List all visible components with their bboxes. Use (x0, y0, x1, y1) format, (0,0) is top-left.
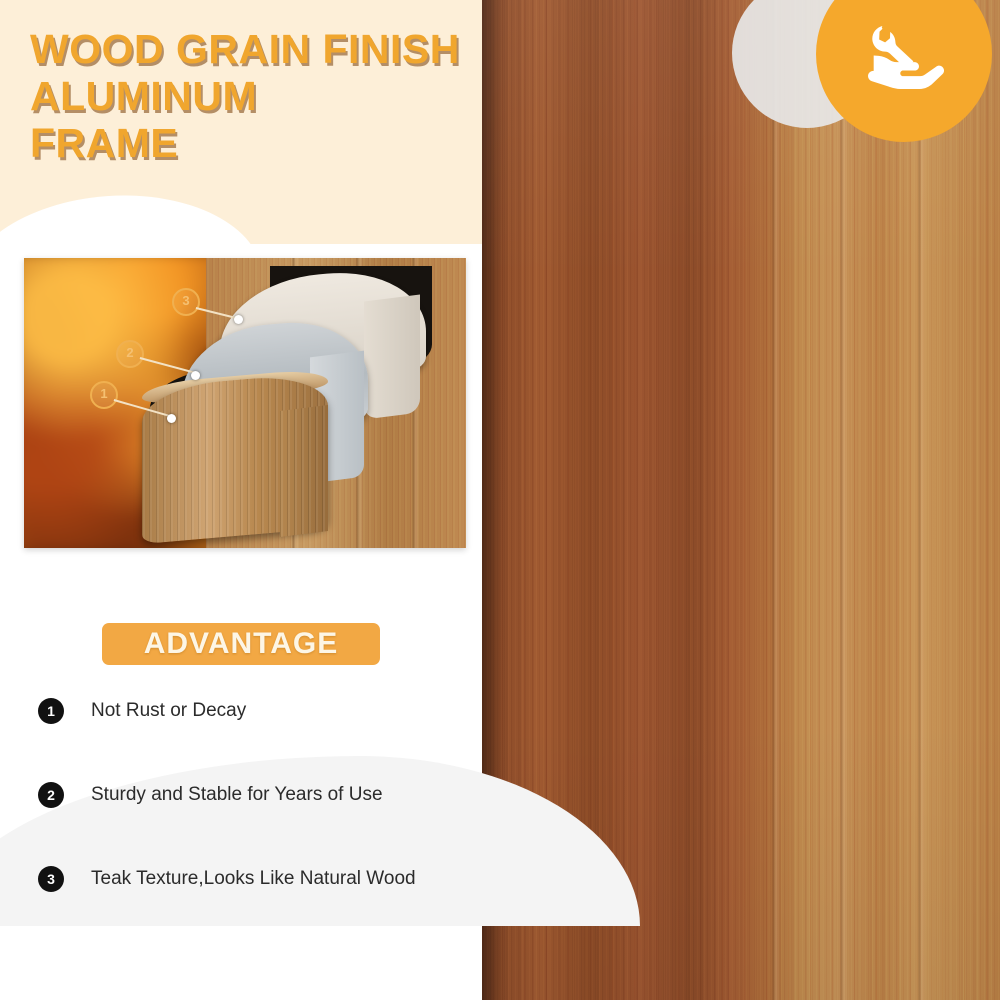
callout-marker-1: 1 (90, 381, 118, 409)
callout-marker-2: 2 (116, 340, 144, 368)
advantage-number-badge: 2 (38, 782, 64, 808)
advantage-list: 1 Not Rust or Decay 2 Sturdy and Stable … (38, 698, 468, 950)
advantage-banner: ADVANTAGE (102, 623, 380, 665)
headline-line-2: ALUMINUM (30, 73, 490, 120)
list-item: 1 Not Rust or Decay (38, 698, 468, 782)
callout-dot-3 (234, 315, 243, 324)
advantage-text: Not Rust or Decay (91, 698, 246, 724)
wrench-in-hand-icon (854, 14, 950, 110)
callout-dot-2 (191, 371, 200, 380)
advantage-banner-label: ADVANTAGE (144, 627, 339, 661)
advantage-number-badge: 3 (38, 866, 64, 892)
advantage-number-badge: 1 (38, 698, 64, 724)
callout-marker-3: 3 (172, 288, 200, 316)
list-item: 2 Sturdy and Stable for Years of Use (38, 782, 468, 866)
layer-1-wood-grain-shell-side (280, 405, 328, 537)
layer-3-coating-side (364, 295, 420, 420)
advantage-text: Teak Texture,Looks Like Natural Wood (91, 866, 416, 892)
page-title: WOOD GRAIN FINISH ALUMINUM FRAME (30, 26, 490, 167)
callout-dot-1 (167, 414, 176, 423)
left-content-column: WOOD GRAIN FINISH ALUMINUM FRAME 3 2 (0, 0, 482, 1000)
advantage-text: Sturdy and Stable for Years of Use (91, 782, 383, 808)
headline-line-3: FRAME (30, 120, 490, 167)
headline-line-1: WOOD GRAIN FINISH (30, 26, 490, 73)
list-item: 3 Teak Texture,Looks Like Natural Wood (38, 866, 468, 950)
infographic-canvas: WOOD GRAIN FINISH ALUMINUM FRAME 3 2 (0, 0, 1000, 1000)
cutaway-product-image: 3 2 1 (24, 258, 466, 548)
